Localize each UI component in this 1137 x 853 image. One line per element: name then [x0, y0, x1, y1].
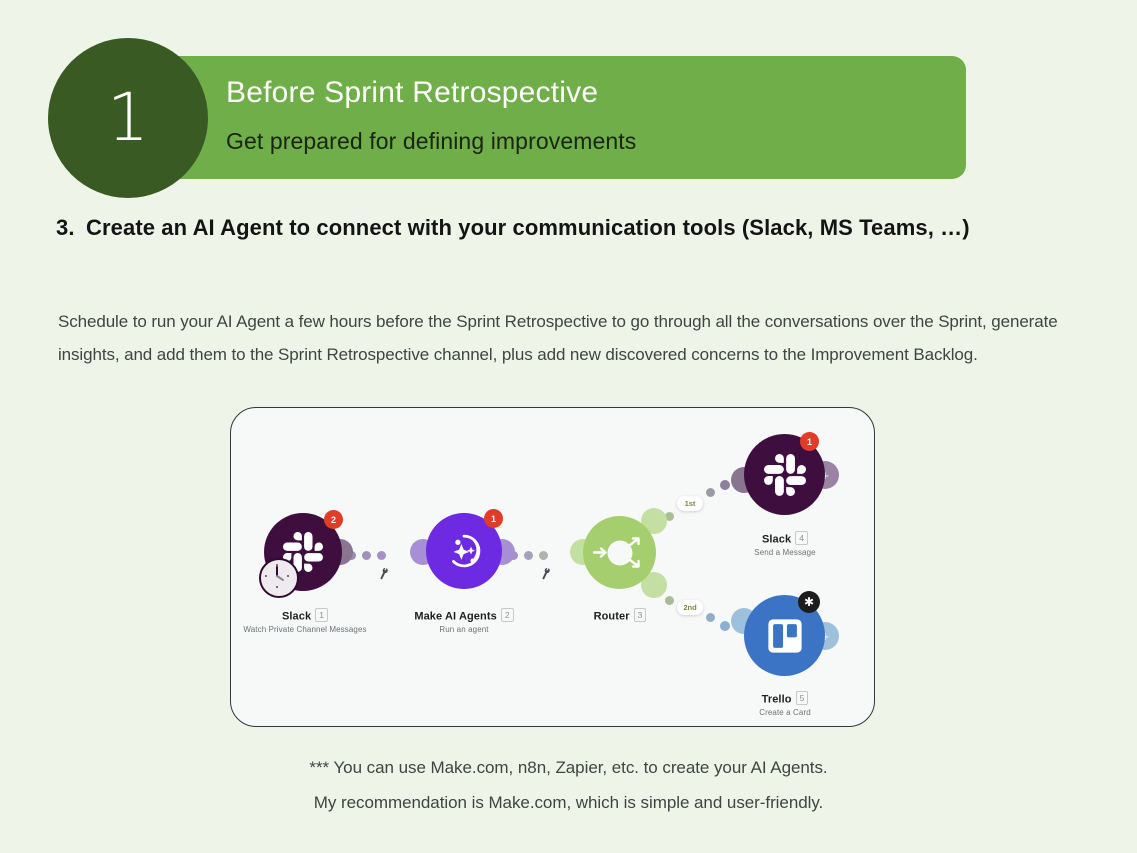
- clock-icon: [259, 558, 299, 598]
- badge-label: 2: [331, 515, 336, 525]
- module-index-chip: 2: [501, 608, 514, 622]
- section-heading: 3.Create an AI Agent to connect with you…: [56, 206, 1046, 250]
- route-pill-label: 2nd: [683, 603, 696, 612]
- module-caption-slack-action: Slack4 Send a Message: [711, 531, 859, 557]
- badge-label: 1: [807, 437, 812, 447]
- module-router[interactable]: [583, 516, 656, 589]
- module-index-chip: 4: [795, 531, 808, 545]
- module-caption-router: Router3: [546, 608, 694, 625]
- connector-dot: [706, 613, 715, 622]
- body-paragraph: Schedule to run your AI Agent a few hour…: [58, 305, 1098, 371]
- sparkle-orbit-icon: [443, 530, 485, 572]
- connector-dot: [720, 480, 730, 490]
- connector-dot: [665, 596, 674, 605]
- route-pill-2nd[interactable]: 2nd: [677, 600, 703, 615]
- module-title: Router3: [546, 608, 694, 623]
- connector-dot: [706, 488, 715, 497]
- module-title: Trello5: [711, 691, 859, 706]
- module-title: Slack1: [231, 608, 379, 623]
- footnote: *** You can use Make.com, n8n, Zapier, e…: [0, 750, 1137, 820]
- module-subtitle: Watch Private Channel Messages: [231, 625, 379, 634]
- badge-error-count[interactable]: 2: [324, 510, 343, 529]
- badge-error-count[interactable]: 1: [484, 509, 503, 528]
- module-title: Slack4: [711, 531, 859, 546]
- page-subtitle: Get prepared for defining improvements: [226, 128, 636, 155]
- badge-asterisk[interactable]: ✱: [798, 591, 820, 613]
- step-number-circle: 1: [48, 38, 208, 198]
- module-subtitle: Send a Message: [711, 548, 859, 557]
- section-heading-text: Create an AI Agent to connect with your …: [86, 215, 970, 240]
- badge-error-count[interactable]: 1: [800, 432, 819, 451]
- module-title: Make AI Agents2: [390, 608, 538, 623]
- connector-dot: [362, 551, 371, 560]
- router-arrows-icon: [583, 516, 656, 589]
- footnote-line-2: My recommendation is Make.com, which is …: [0, 785, 1137, 820]
- module-caption-trello-action: Trello5 Create a Card: [711, 691, 859, 717]
- module-caption-make-ai-agents: Make AI Agents2 Run an agent: [390, 608, 538, 634]
- module-index-chip: 5: [796, 691, 809, 705]
- header-banner: [128, 56, 966, 179]
- step-number-label: 1: [48, 85, 208, 151]
- module-subtitle: Run an agent: [390, 625, 538, 634]
- module-index-chip: 3: [634, 608, 647, 622]
- connector-dot: [720, 621, 730, 631]
- route-pill-label: 1st: [685, 499, 696, 508]
- scenario-diagram-card: 1st 2nd 2 Slack1 Watch Private Channel: [230, 407, 875, 727]
- wrench-icon[interactable]: [539, 566, 555, 584]
- module-index-chip: 1: [315, 608, 328, 622]
- slack-icon: [764, 454, 806, 496]
- trello-board-icon: [764, 615, 806, 657]
- connector-dot: [539, 551, 548, 560]
- footnote-line-1: *** You can use Make.com, n8n, Zapier, e…: [0, 750, 1137, 785]
- wrench-icon[interactable]: [377, 566, 393, 584]
- section-index: 3.: [56, 206, 86, 250]
- badge-label: 1: [491, 514, 496, 524]
- connector-dot: [524, 551, 533, 560]
- page-title: Before Sprint Retrospective: [226, 76, 598, 110]
- module-subtitle: Create a Card: [711, 708, 859, 717]
- route-pill-1st[interactable]: 1st: [677, 496, 703, 511]
- module-caption-slack-trigger: Slack1 Watch Private Channel Messages: [231, 608, 379, 634]
- badge-label: ✱: [804, 595, 814, 609]
- connector-dot: [377, 551, 386, 560]
